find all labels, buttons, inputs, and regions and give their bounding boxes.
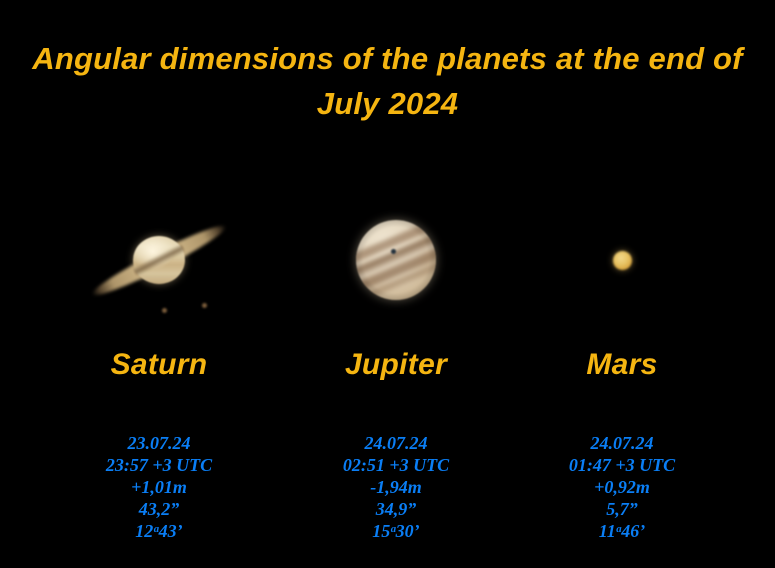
observation-date: 24.07.24 — [493, 432, 751, 454]
planet-column-jupiter: Jupiter 24.07.24 02:51 +3 UTC -1,94m 34,… — [267, 180, 525, 568]
planet-data-saturn: 23.07.24 23:57 +3 UTC +1,01m 43,2” 12ᵃ43… — [30, 432, 288, 542]
saturn-moon-icon — [162, 308, 167, 313]
jupiter-limb-darkening — [356, 220, 436, 300]
observation-date: 23.07.24 — [30, 432, 288, 454]
observation-date: 24.07.24 — [267, 432, 525, 454]
magnitude-value: -1,94m — [267, 476, 525, 498]
mars-image-area — [493, 180, 751, 340]
jupiter-planet-icon — [356, 220, 436, 300]
mars-planet-icon — [607, 245, 637, 275]
astronomy-poster: Angular dimensions of the planets at the… — [0, 0, 775, 568]
observation-time: 01:47 +3 UTC — [493, 454, 751, 476]
jupiter-disk-icon — [356, 220, 436, 300]
mars-disk-icon — [613, 251, 632, 270]
planet-label-saturn: Saturn — [30, 348, 288, 382]
magnitude-value: +0,92m — [493, 476, 751, 498]
planet-column-mars: Mars 24.07.24 01:47 +3 UTC +0,92m 5,7” 1… — [493, 180, 751, 568]
magnitude-value: +1,01m — [30, 476, 288, 498]
angular-diameter-value: 43,2” — [30, 498, 288, 520]
altitude-value: 12ᵃ43’ — [30, 520, 288, 542]
planet-label-jupiter: Jupiter — [267, 348, 525, 382]
planet-label-mars: Mars — [493, 348, 751, 382]
planet-data-jupiter: 24.07.24 02:51 +3 UTC -1,94m 34,9” 15ᵃ30… — [267, 432, 525, 542]
planet-data-mars: 24.07.24 01:47 +3 UTC +0,92m 5,7” 11ᵃ46’ — [493, 432, 751, 542]
saturn-moon-icon — [202, 303, 207, 308]
page-title: Angular dimensions of the planets at the… — [0, 36, 775, 126]
angular-diameter-value: 34,9” — [267, 498, 525, 520]
angular-diameter-value: 5,7” — [493, 498, 751, 520]
saturn-planet-icon — [79, 200, 239, 320]
observation-time: 02:51 +3 UTC — [267, 454, 525, 476]
saturn-image-area — [30, 180, 288, 340]
altitude-value: 15ᵃ30’ — [267, 520, 525, 542]
observation-time: 23:57 +3 UTC — [30, 454, 288, 476]
altitude-value: 11ᵃ46’ — [493, 520, 751, 542]
jupiter-image-area — [267, 180, 525, 340]
planet-column-saturn: Saturn 23.07.24 23:57 +3 UTC +1,01m 43,2… — [30, 180, 288, 568]
